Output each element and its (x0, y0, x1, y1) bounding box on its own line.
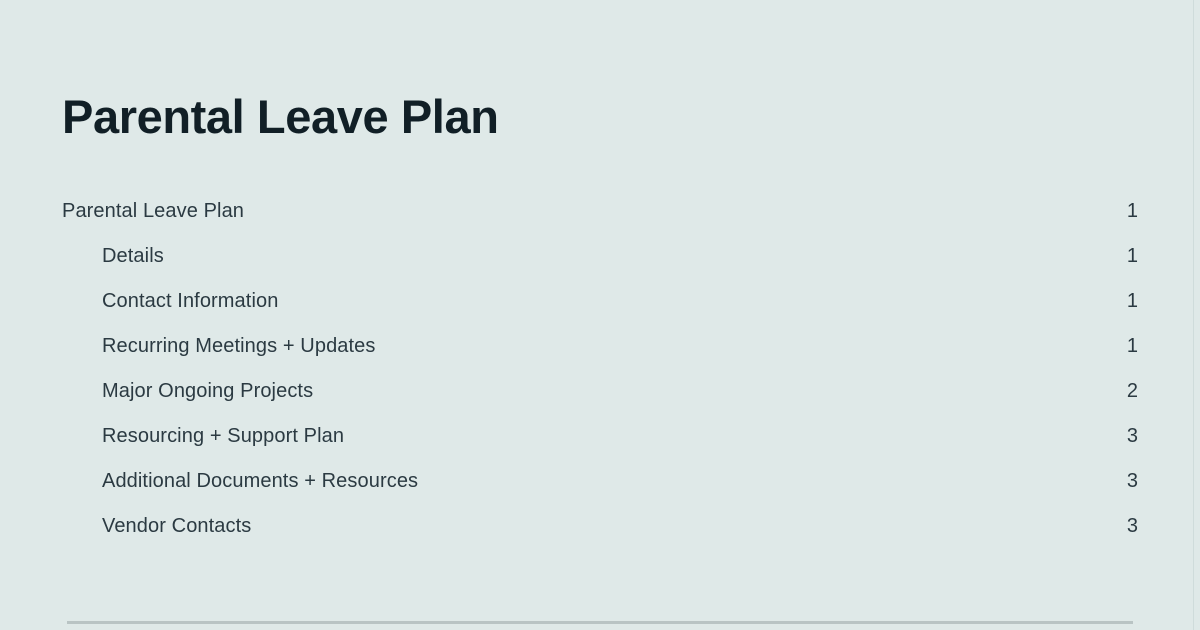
toc-entry-page-number: 3 (1124, 470, 1138, 493)
toc-entry-label: Vendor Contacts (102, 515, 251, 538)
section-divider (67, 621, 1133, 624)
page-title: Parental Leave Plan (62, 89, 499, 145)
toc-entry-label: Contact Information (102, 290, 278, 313)
toc-entry-page-number: 1 (1124, 245, 1138, 268)
toc-entry-label: Details (102, 245, 164, 268)
document-page: Parental Leave Plan Parental Leave Plan1… (0, 0, 1200, 630)
toc-entry[interactable]: Resourcing + Support Plan3 (62, 425, 1138, 470)
page-edge-divider (1193, 0, 1194, 630)
toc-entry-page-number: 1 (1124, 200, 1138, 223)
toc-entry-page-number: 2 (1124, 380, 1138, 403)
toc-entry-page-number: 1 (1124, 335, 1138, 358)
toc-entry-page-number: 3 (1124, 515, 1138, 538)
toc-entry-label: Recurring Meetings + Updates (102, 335, 376, 358)
toc-entry-label: Additional Documents + Resources (102, 470, 418, 493)
toc-entry[interactable]: Vendor Contacts3 (62, 515, 1138, 560)
toc-entry-page-number: 1 (1124, 290, 1138, 313)
toc-entry[interactable]: Parental Leave Plan1 (62, 200, 1138, 245)
toc-entry[interactable]: Recurring Meetings + Updates1 (62, 335, 1138, 380)
table-of-contents: Parental Leave Plan1Details1Contact Info… (62, 200, 1138, 560)
toc-entry[interactable]: Major Ongoing Projects2 (62, 380, 1138, 425)
toc-entry-label: Major Ongoing Projects (102, 380, 313, 403)
toc-entry[interactable]: Details1 (62, 245, 1138, 290)
toc-entry-label: Parental Leave Plan (62, 200, 244, 223)
toc-entry-label: Resourcing + Support Plan (102, 425, 344, 448)
toc-entry[interactable]: Contact Information1 (62, 290, 1138, 335)
toc-entry-page-number: 3 (1124, 425, 1138, 448)
toc-entry[interactable]: Additional Documents + Resources3 (62, 470, 1138, 515)
